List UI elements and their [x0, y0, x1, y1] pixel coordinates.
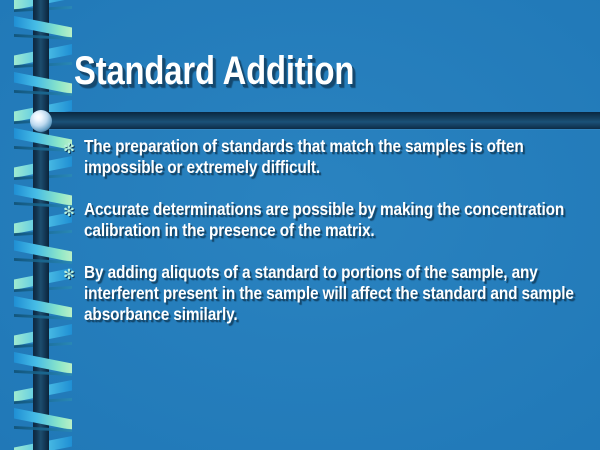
sun-burst-bullet-icon: ✻	[62, 141, 76, 155]
glow-sphere-accent	[30, 110, 52, 132]
title-divider-bar	[36, 112, 600, 129]
sun-burst-bullet-icon: ✻	[62, 267, 76, 281]
list-item-text: Accurate determinations are possible by …	[84, 199, 587, 241]
page-title: Standard Addition	[74, 48, 484, 94]
slide-canvas: Standard Addition ✻ The preparation of s…	[0, 0, 600, 450]
list-item: ✻ Accurate determinations are possible b…	[62, 199, 590, 241]
list-item: ✻ By adding aliquots of a standard to po…	[62, 262, 590, 325]
sun-burst-bullet-icon: ✻	[62, 204, 76, 218]
ribbon-segment	[14, 10, 72, 44]
list-item-text: By adding aliquots of a standard to port…	[84, 262, 587, 325]
bullet-list: ✻ The preparation of standards that matc…	[62, 136, 590, 325]
list-item-text: The preparation of standards that match …	[84, 136, 587, 178]
list-item: ✻ The preparation of standards that matc…	[62, 136, 590, 178]
ribbon-segment	[14, 402, 72, 436]
ribbon-segment	[14, 346, 72, 380]
ribbon-segment	[14, 66, 72, 100]
